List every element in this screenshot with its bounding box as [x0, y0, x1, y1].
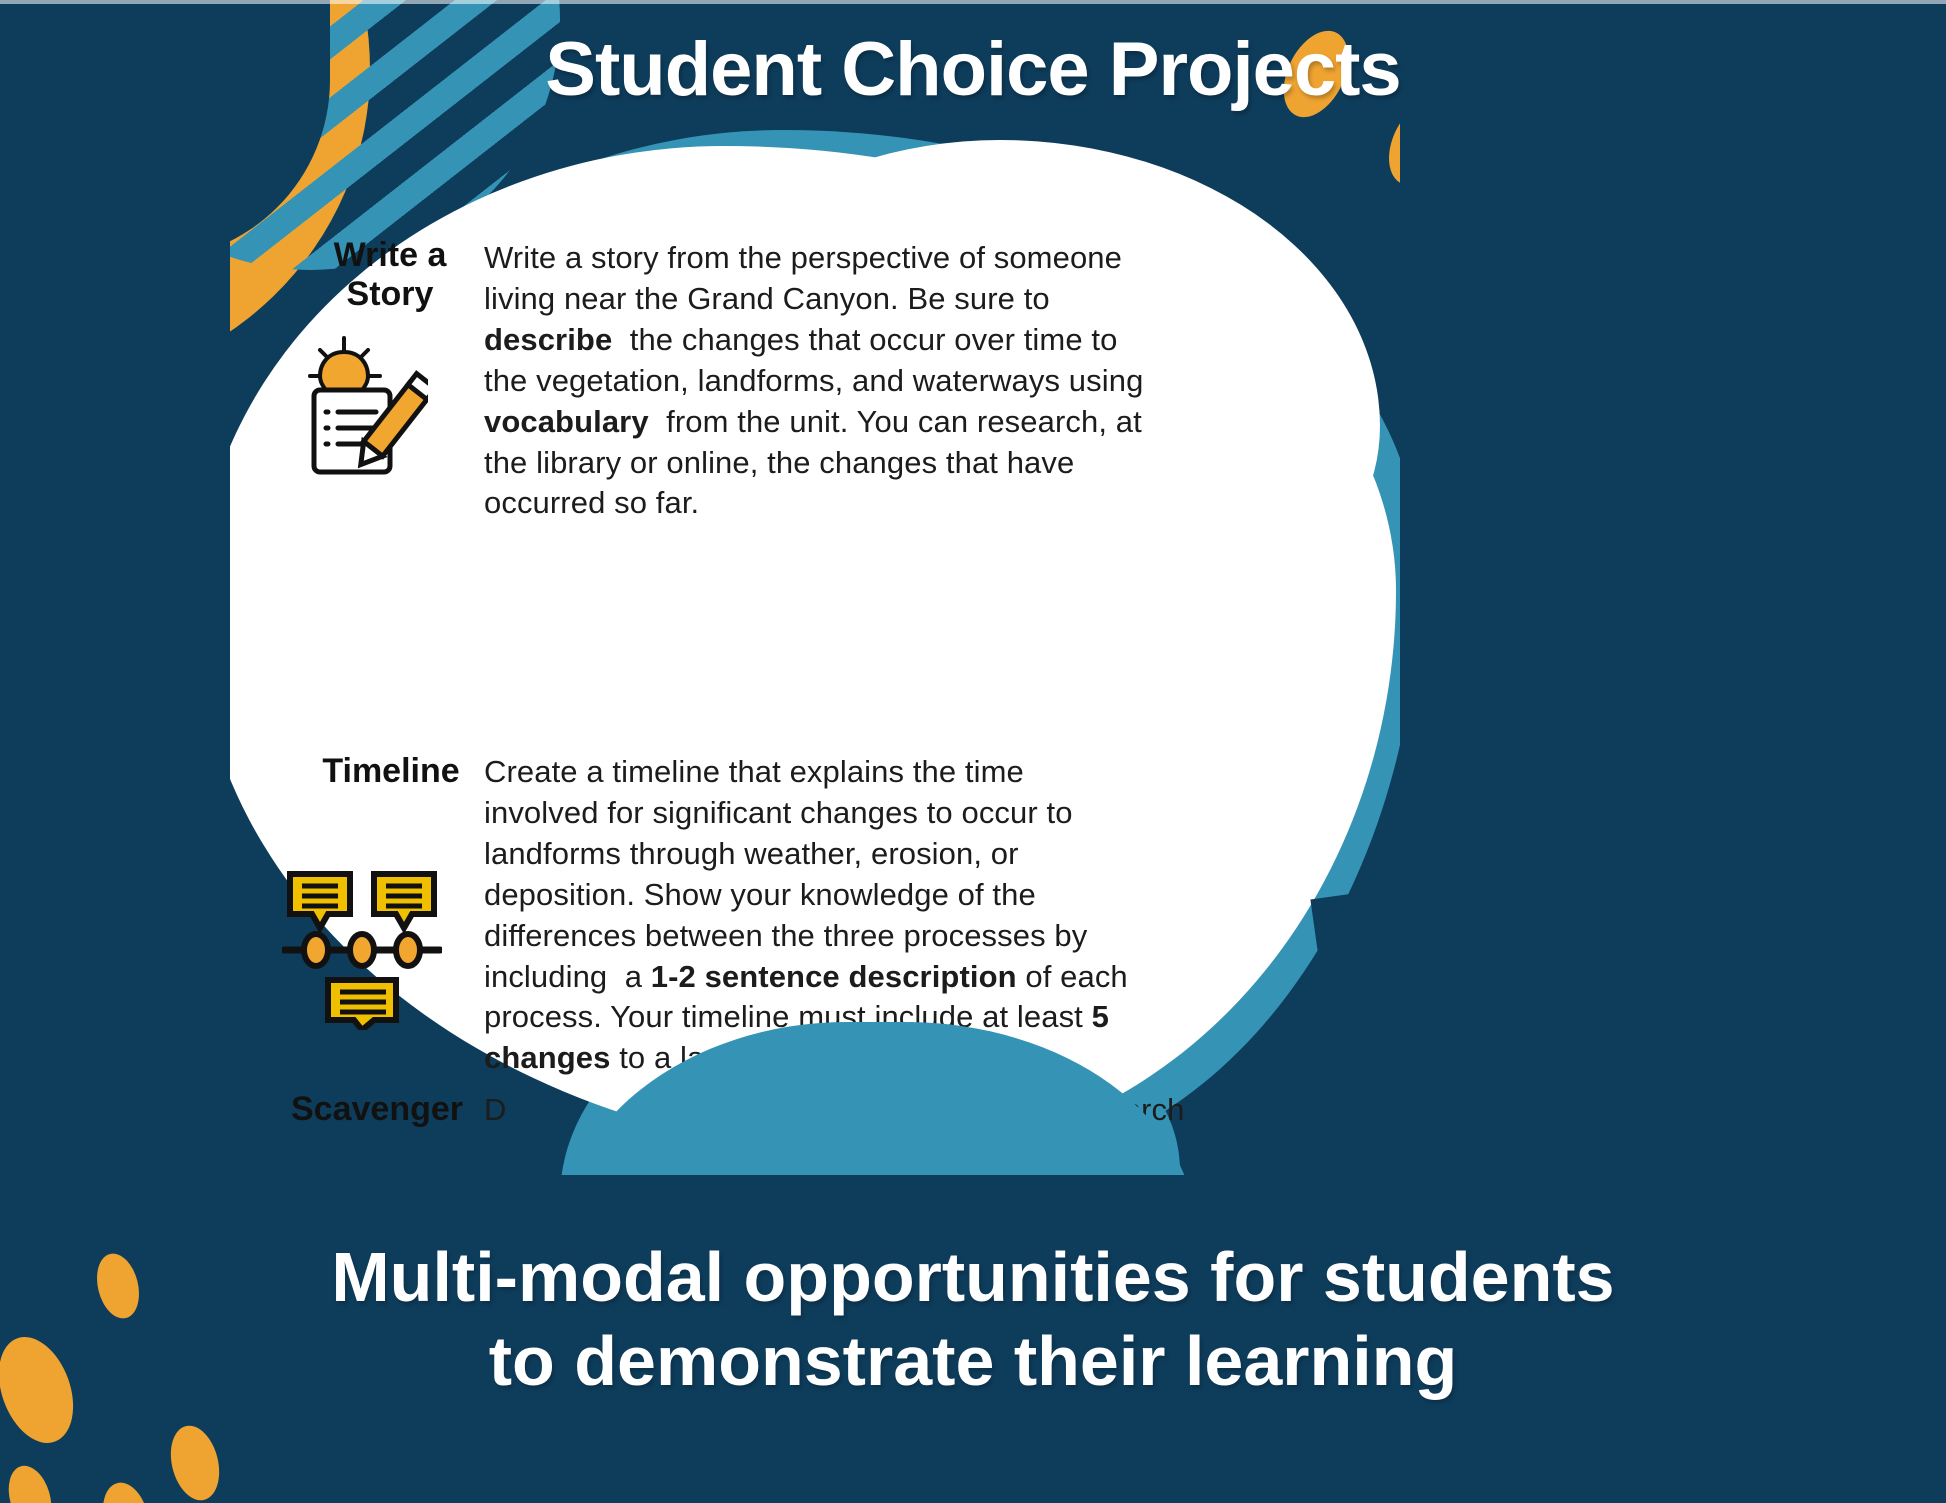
row-label-write-a-story: Write a Story	[280, 236, 500, 314]
row-label-travel-brochure: Travel Brochure	[1440, 752, 1740, 830]
caption-text: Multi-modal opportunities for students t…	[0, 1235, 1946, 1403]
row-label-scavenger: Scavenger	[252, 1090, 502, 1129]
caption-line-1: Multi-modal opportunities for students	[331, 1238, 1614, 1316]
bold-one-two-sentence: 1-2 sentence description	[651, 959, 1017, 994]
notepad-lightbulb-pencil-icon	[298, 330, 428, 480]
bold-vocabulary: vocabulary	[484, 404, 649, 439]
svg-text:A: A	[1578, 424, 1604, 465]
svg-text:C: C	[1578, 502, 1604, 543]
slide-canvas: Student Choice Projects Write a Story	[0, 0, 1946, 1503]
row-body-scavenger-partial: D	[484, 1090, 604, 1131]
travel-brochure-icon	[1508, 866, 1678, 1036]
row-body-write-a-story: Write a story from the perspective of so…	[484, 238, 1184, 524]
svg-text:B: B	[1578, 464, 1604, 505]
caption-line-2: to demonstrate their learning	[0, 1319, 1946, 1403]
row-body-timeline: Create a timeline that explains the time…	[484, 752, 1184, 1079]
abc-book-icon: A B C	[1524, 405, 1644, 545]
timeline-milestones-icon	[282, 870, 442, 1030]
row-body-scavenger-partial-right: e to search	[1030, 1090, 1230, 1131]
mask-bottom-left	[0, 1130, 260, 1250]
top-edge-line	[0, 0, 1946, 4]
page-title: Student Choice Projects	[0, 26, 1946, 113]
bold-changes: changes	[484, 1040, 610, 1075]
bold-five: 5	[1092, 999, 1109, 1034]
bold-describe: describe	[484, 322, 612, 357]
row-label-timeline: Timeline	[266, 752, 516, 791]
